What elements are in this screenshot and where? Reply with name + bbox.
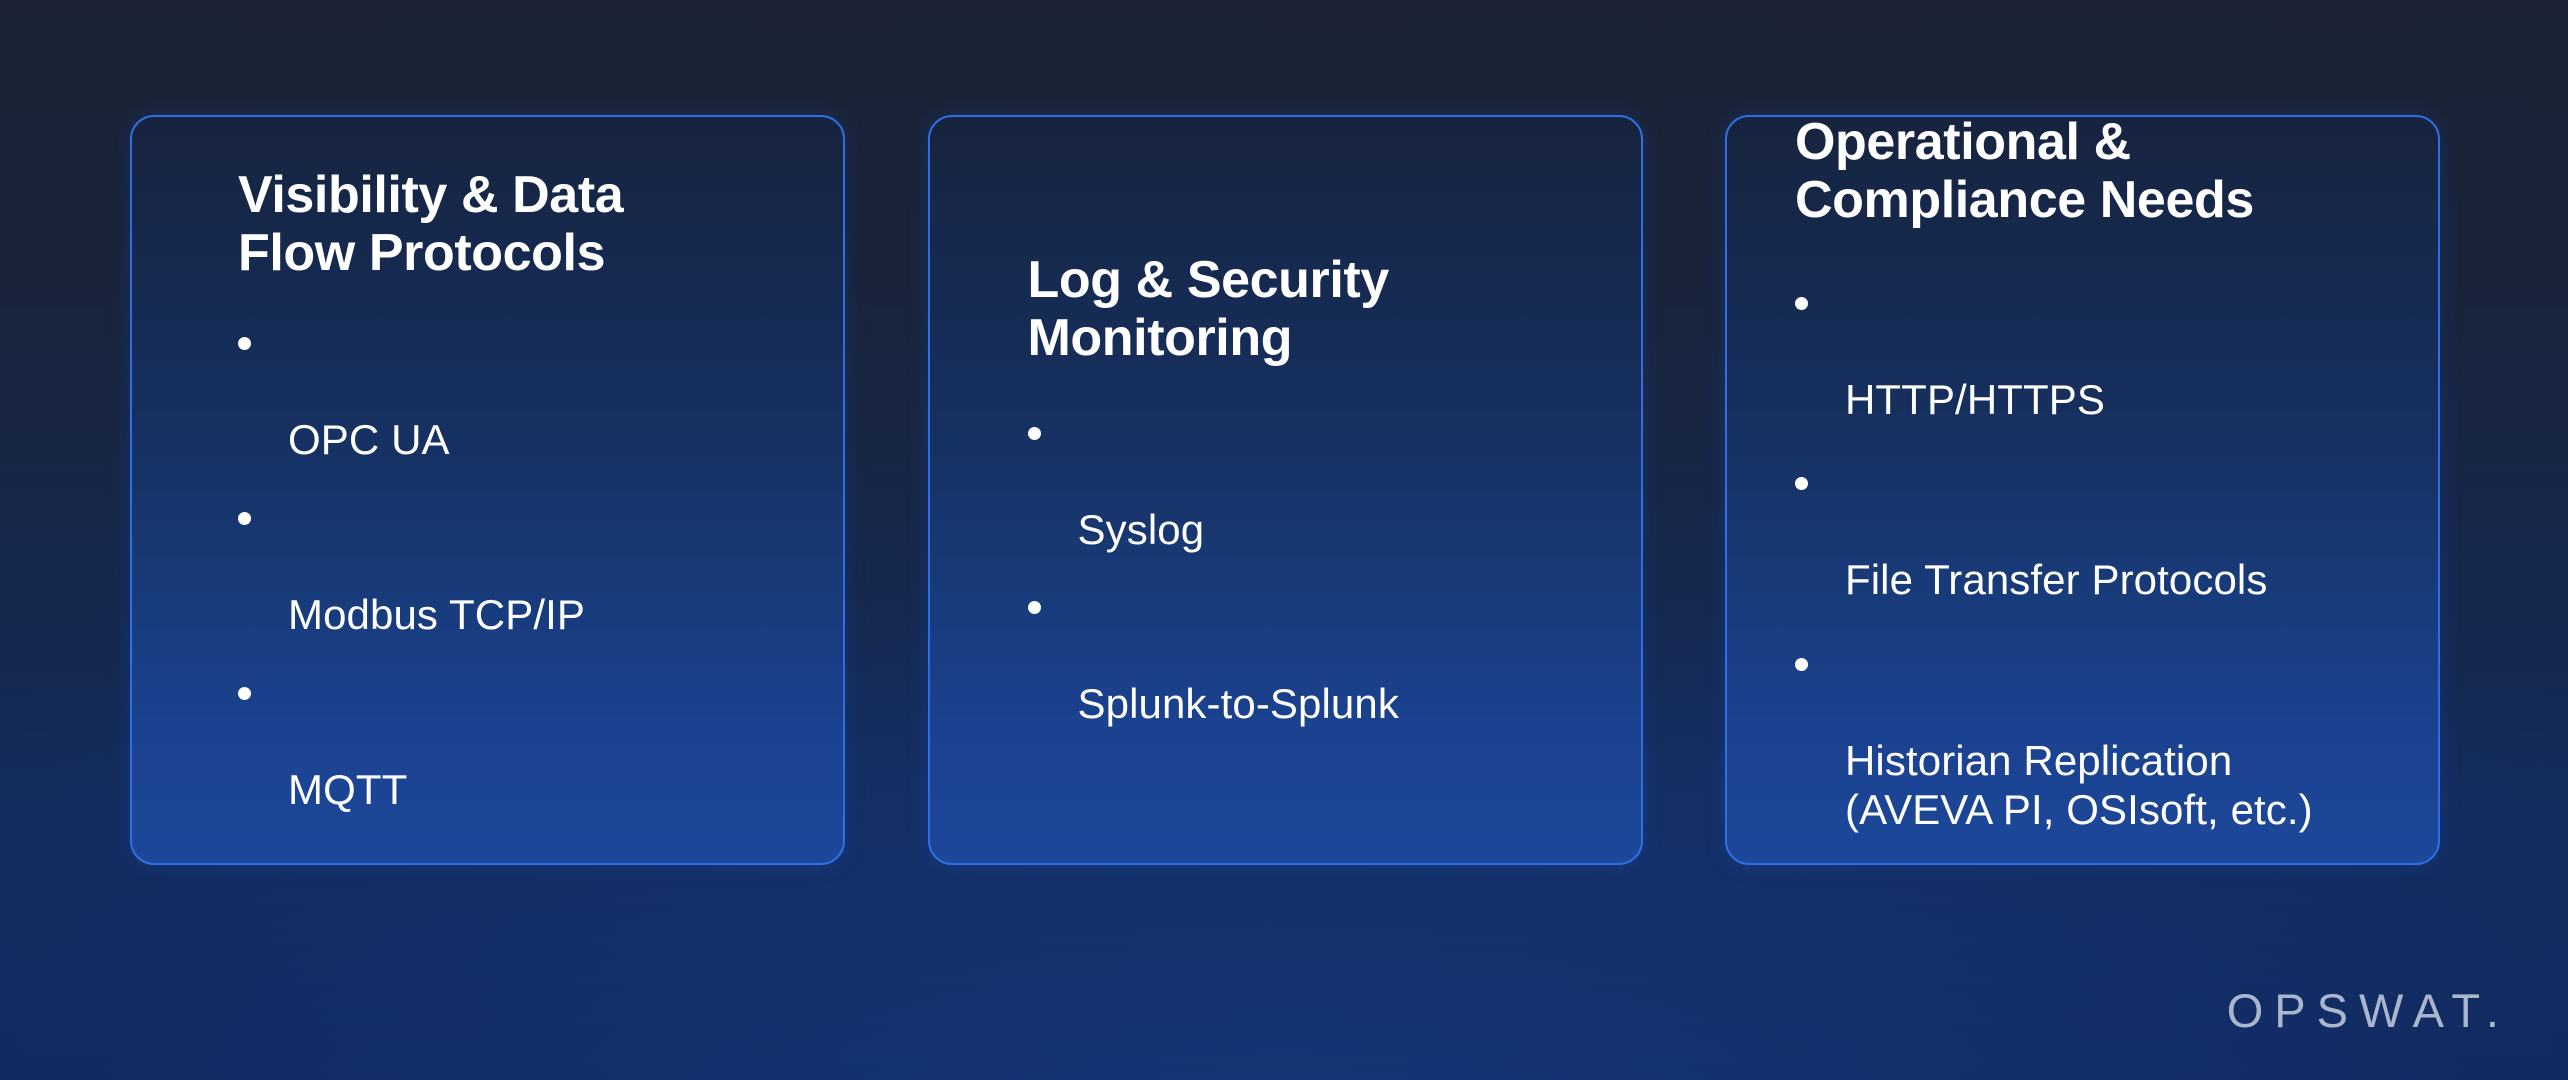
list-item-label: File Transfer Protocols [1845, 556, 2267, 603]
bullet-dot-icon [238, 512, 251, 525]
bullet-list: OPC UA Modbus TCP/IP MQTT [238, 316, 803, 814]
card-title: Log & Security Monitoring [1028, 251, 1601, 367]
card-title: Operational & Compliance Needs [1795, 115, 2398, 230]
list-item-label: OPC UA [288, 416, 450, 463]
bullet-list: Syslog Splunk-to-Splunk [1028, 406, 1601, 729]
card-title: Visibility & Data Flow Protocols [238, 166, 803, 282]
slide-root: Visibility & Data Flow Protocols OPC UA … [0, 0, 2568, 1080]
card-visibility-data-flow-protocols: Visibility & Data Flow Protocols OPC UA … [130, 115, 845, 865]
list-item: File Transfer Protocols [1795, 456, 2398, 605]
bullet-dot-icon [1795, 658, 1808, 671]
list-item-label: HTTP/HTTPS [1845, 376, 2105, 423]
list-item-label: Splunk-to-Splunk [1078, 680, 1399, 727]
card-operational-compliance-needs: Operational & Compliance Needs HTTP/HTTP… [1725, 115, 2440, 865]
bullet-dot-icon [238, 337, 251, 350]
bullet-dot-icon [1795, 477, 1808, 490]
bullet-dot-icon [238, 687, 251, 700]
list-item-label: Modbus TCP/IP [288, 591, 585, 638]
bullet-list: HTTP/HTTPS File Transfer Protocols Histo… [1795, 276, 2398, 866]
list-item: Historian Replication (AVEVA PI, OSIsoft… [1795, 637, 2398, 835]
card-log-security-monitoring: Log & Security Monitoring Syslog Splunk-… [928, 115, 1643, 865]
bullet-dot-icon [1028, 427, 1041, 440]
bullet-dot-icon [1028, 601, 1041, 614]
list-item-label: MQTT [288, 766, 407, 813]
list-item-label: Historian Replication (AVEVA PI, OSIsoft… [1845, 737, 2313, 834]
list-item: Splunk-to-Splunk [1028, 580, 1601, 729]
list-item-label: Syslog [1078, 506, 1205, 553]
list-item: OPC UA [238, 316, 803, 465]
list-item: HTTP/HTTPS [1795, 276, 2398, 425]
list-item: Syslog [1028, 406, 1601, 555]
bullet-dot-icon [1795, 297, 1808, 310]
list-item: MQTT [238, 666, 803, 815]
card-group: Visibility & Data Flow Protocols OPC UA … [130, 115, 2440, 865]
list-item: Modbus TCP/IP [238, 491, 803, 640]
opswat-logo: OPSWAT. [2227, 983, 2510, 1038]
